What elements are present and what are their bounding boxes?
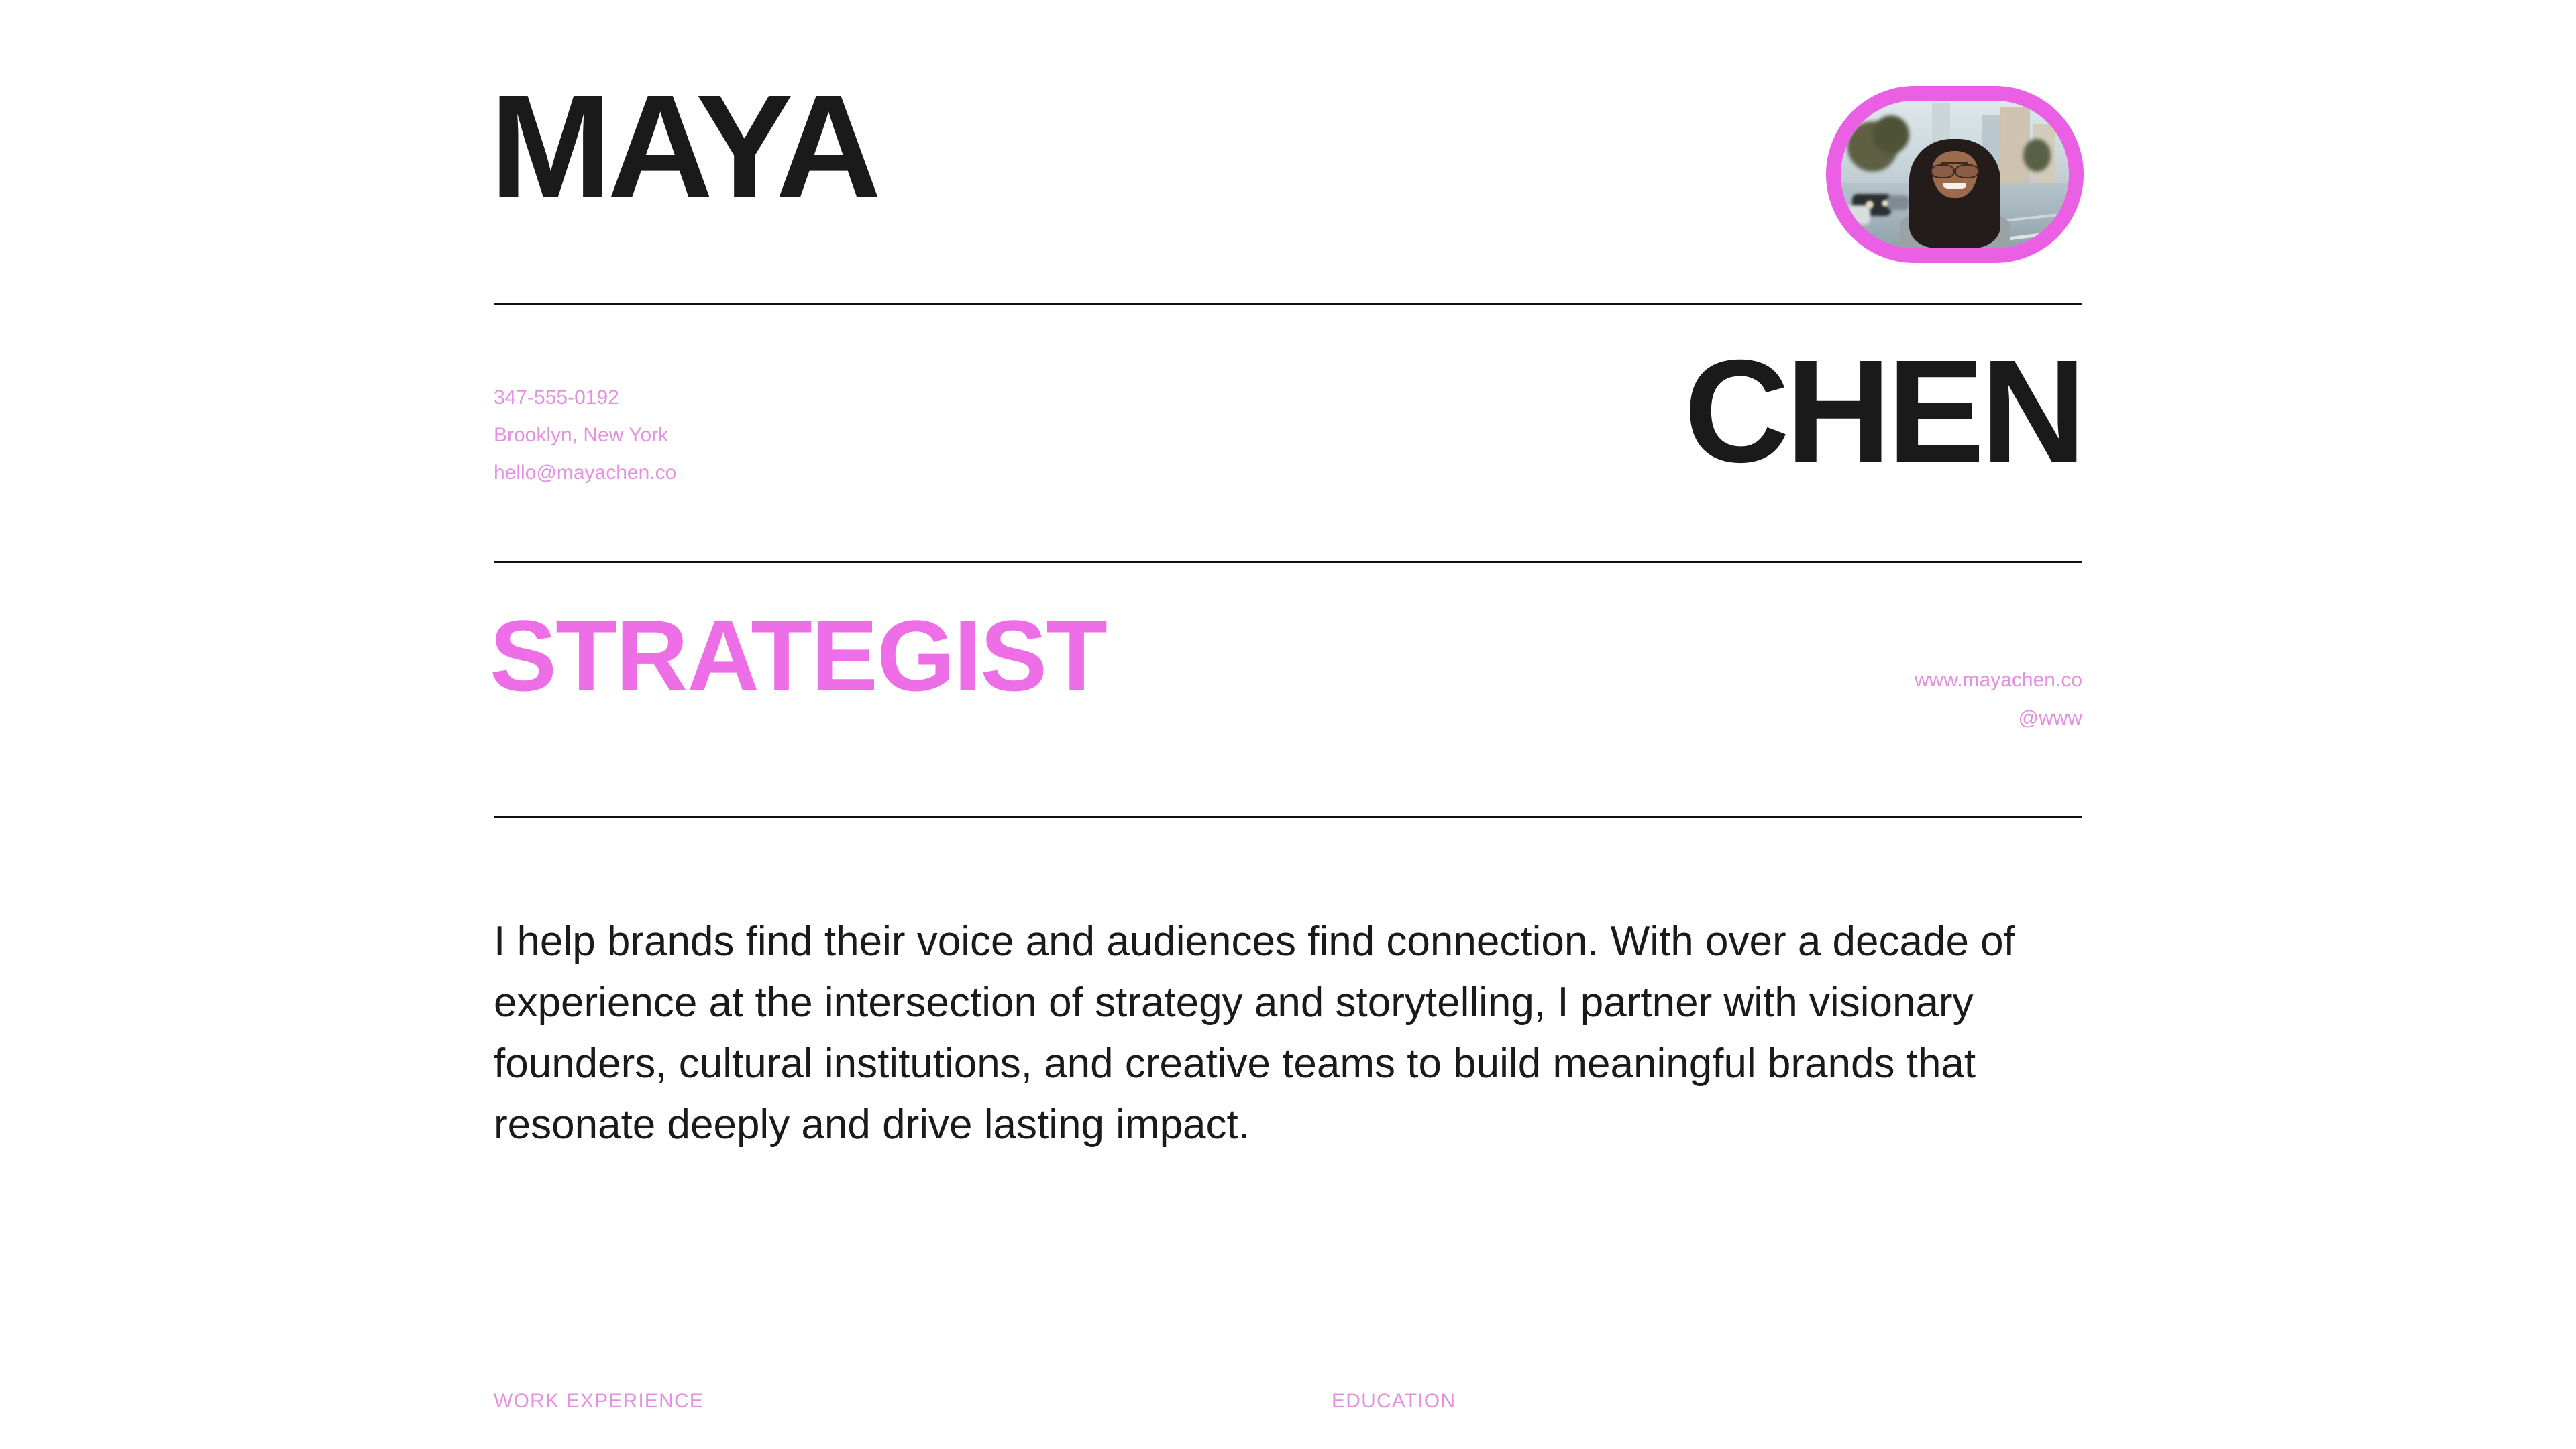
divider-rule-1 — [494, 303, 2082, 305]
summary-paragraph: I help brands find their voice and audie… — [494, 911, 2104, 1155]
links-block: www.mayachen.co @www — [494, 661, 2082, 737]
avatar — [1826, 86, 2084, 263]
photo-headlight — [1866, 201, 1874, 209]
photo-tree — [1873, 115, 1909, 154]
page-title-first-name: MAYA — [490, 74, 877, 220]
divider-rule-3 — [494, 816, 2082, 818]
photo-glasses-lens — [1931, 164, 1954, 179]
glasses-icon — [1931, 164, 1978, 176]
link-social-handle[interactable]: @www — [494, 699, 2082, 737]
resume-page: MAYA — [0, 0, 2576, 1449]
photo-car — [1886, 195, 1909, 210]
photo-tree — [2023, 139, 2051, 171]
photo-car — [1843, 205, 1870, 225]
link-website[interactable]: www.mayachen.co — [494, 661, 2082, 699]
section-label-work-experience: WORK EXPERIENCE — [494, 1390, 704, 1413]
page-title-last-name: CHEN — [494, 339, 2082, 485]
photo-glasses-lens — [1955, 164, 1978, 179]
avatar-photo — [1841, 101, 2069, 248]
photo-person-smile — [1943, 183, 1966, 189]
divider-rule-2 — [494, 561, 2082, 563]
section-label-education: EDUCATION — [1332, 1390, 1456, 1413]
